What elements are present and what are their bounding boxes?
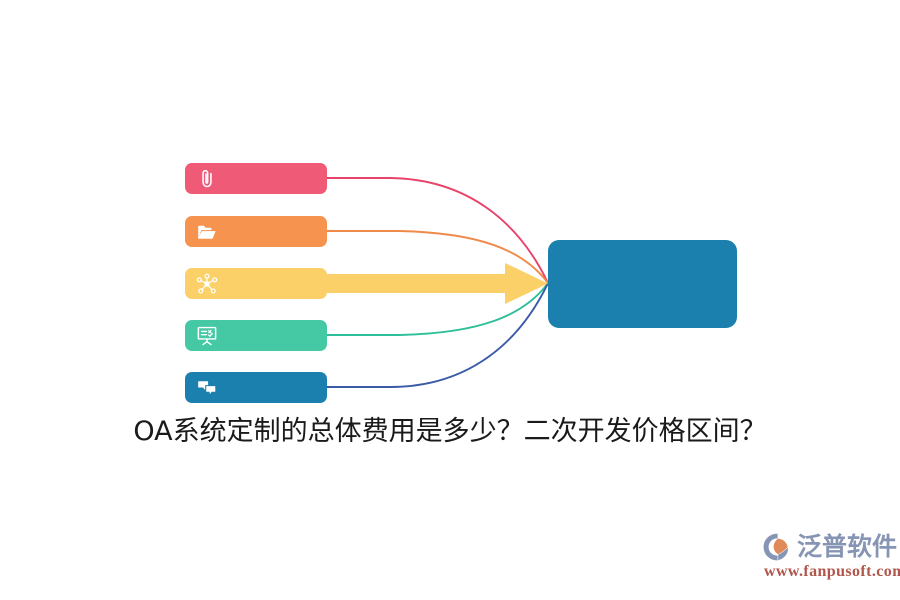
fanpu-leaf-logo-icon (762, 532, 794, 562)
connector-arrow-2 (327, 263, 548, 304)
paperclip-icon (196, 168, 218, 190)
connector-layer (0, 0, 900, 600)
connector-line-0 (327, 178, 548, 282)
brand-logo: 泛普软件 (762, 530, 897, 564)
category-bar-label-0 (225, 163, 319, 194)
network-hub-icon (196, 273, 218, 295)
presentation-board-icon (196, 325, 218, 347)
category-bar-label-3 (225, 320, 319, 351)
category-bar-label-4 (225, 372, 319, 403)
target-box[interactable] (548, 240, 737, 328)
chat-bubbles-icon (196, 377, 218, 399)
category-bar-0[interactable] (185, 163, 327, 194)
category-bar-1[interactable] (185, 216, 327, 247)
category-bar-2[interactable] (185, 268, 327, 299)
page-title: OA系统定制的总体费用是多少？二次开发价格区间？ (0, 412, 900, 452)
folder-open-icon (196, 221, 218, 243)
watermark: 泛普软件 www.fanpusoft.com (762, 530, 894, 588)
category-bar-label-2 (225, 268, 319, 299)
category-bar-label-1 (225, 216, 319, 247)
category-bar-4[interactable] (185, 372, 327, 403)
brand-url: www.fanpusoft.com (764, 563, 900, 581)
category-bar-3[interactable] (185, 320, 327, 351)
brand-name: 泛普软件 (797, 532, 897, 562)
diagram-canvas: OA系统定制的总体费用是多少？二次开发价格区间？ 泛普软件 www.fanpus… (0, 0, 900, 600)
